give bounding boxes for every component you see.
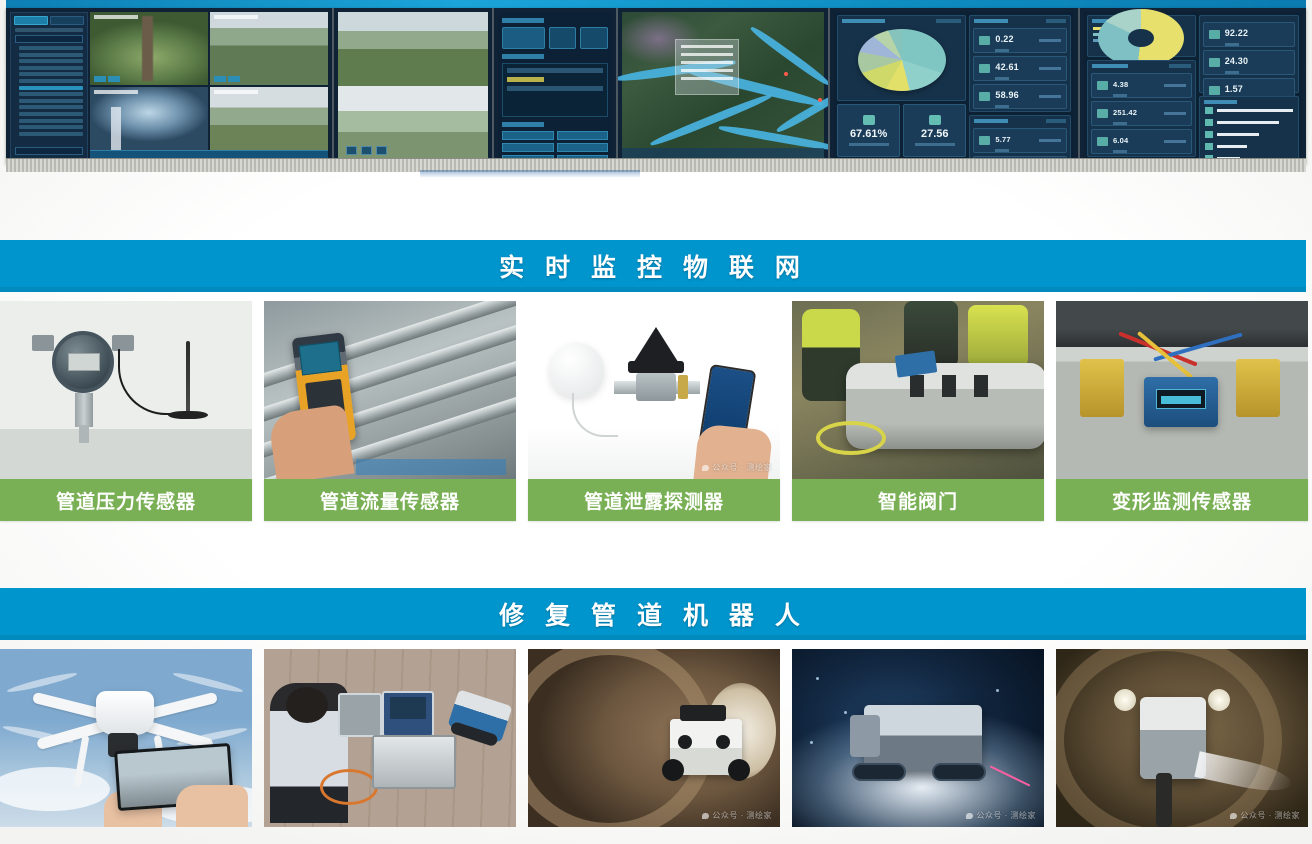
kpi-value: 251.42 [1113, 108, 1137, 117]
area-stats-card[interactable]: 4.38 251.42 [1087, 60, 1196, 157]
card-title [974, 119, 1008, 123]
card-pipeline-leak-detector[interactable]: 公众号 · 测绘家 管道泄露探测器 [528, 301, 780, 521]
survey-drone-illustration [0, 649, 252, 827]
kpi-row[interactable]: 251.42 [1091, 101, 1192, 126]
wall-screen-cctv-grid [6, 8, 332, 164]
watermark: 公众号 · 测绘家 [1230, 810, 1300, 821]
timestamp-overlay [94, 15, 138, 19]
table-row[interactable] [507, 77, 544, 82]
kpi-percent [1164, 112, 1186, 115]
field-crew-illustration [792, 301, 1044, 479]
timestamp-overlay [214, 15, 258, 19]
section-pipeline-repair-robots: 修 复 管 道 机 器 人 [0, 588, 1312, 827]
card-unit [1046, 119, 1066, 123]
map-marker[interactable] [784, 72, 788, 76]
stat-card[interactable] [549, 27, 577, 49]
big-stat-caption [849, 143, 889, 146]
map-info-callout [675, 39, 740, 95]
card-title [974, 19, 1008, 23]
tab-device-list[interactable] [14, 16, 48, 25]
card-title [842, 19, 885, 23]
big-stat-value: 27.56 [921, 128, 949, 140]
card-pipeline-pressure-sensor[interactable]: 管道压力传感器 [0, 301, 252, 521]
tree-node[interactable] [19, 46, 83, 50]
port-icon [1205, 143, 1213, 150]
pond-icon [979, 136, 990, 145]
product-thumbnail[interactable]: 公众号 · 测绘家 [792, 649, 1044, 827]
bi-dashboard: 4.38 251.42 [1084, 12, 1302, 160]
sidebar-footer-select[interactable] [15, 147, 83, 155]
card-unit [1169, 64, 1190, 68]
card-unit [1046, 19, 1066, 23]
watermark: 公众号 · 测绘家 [702, 810, 772, 821]
product-thumbnail[interactable] [0, 649, 252, 827]
vegetation-stats-card[interactable]: 92.22 24.30 1.57 [1199, 15, 1299, 93]
section-banner: 修 复 管 道 机 器 人 [0, 588, 1306, 640]
video-wall-frame: 67.61% 27.56 [6, 8, 1306, 164]
bar-row [1205, 143, 1293, 150]
panel-button[interactable] [502, 131, 554, 140]
product-thumbnail[interactable] [792, 301, 1044, 479]
big-stat-caption [915, 143, 955, 146]
product-card-row: 管道压力传感器 管道流量传感器 [0, 292, 1312, 521]
product-caption: 智能阀门 [792, 479, 1044, 521]
pond-icon [1097, 81, 1108, 90]
kpi-value: 24.30 [1225, 56, 1249, 66]
pipe-inspection-crawler-illustration [792, 649, 1044, 827]
in-pipe-crawler-illustration [528, 649, 780, 827]
bar-row [1205, 119, 1293, 126]
camera-controls[interactable] [214, 76, 240, 82]
card-smart-valve[interactable]: 智能阀门 [792, 301, 1044, 521]
product-caption: 变形监测传感器 [1056, 479, 1308, 521]
kpi-value: 42.61 [995, 62, 1019, 72]
kpi-percent [1039, 39, 1061, 42]
product-thumbnail[interactable] [264, 649, 516, 827]
artificial-surface-card[interactable]: 0.22 42.61 [969, 15, 1071, 112]
table-row[interactable] [507, 86, 603, 91]
road-icon [1205, 107, 1213, 114]
bridge-icon [1205, 131, 1213, 138]
kpi-row[interactable]: 6.04 [1091, 129, 1192, 154]
card-pipe-inspection-crawler[interactable]: 公众号 · 测绘家 [792, 649, 1044, 827]
panel-section-title [502, 18, 544, 23]
tree-node[interactable] [19, 92, 83, 96]
crawler-operator-illustration [264, 649, 516, 827]
card-crawler-operator[interactable] [264, 649, 516, 827]
tree-node[interactable] [19, 66, 83, 70]
wechat-icon [1230, 813, 1237, 819]
kpi-row[interactable]: 58.96 [973, 84, 1067, 109]
wall-screen-bi-dashboard-right: 4.38 251.42 [1078, 8, 1306, 164]
kpi-value: 0.22 [995, 34, 1013, 44]
panel-action-row [502, 27, 608, 49]
gis-side-panel [498, 12, 612, 160]
panel-button[interactable] [557, 131, 609, 140]
tree-node[interactable] [19, 112, 83, 116]
big-stat-card[interactable]: 67.61% [837, 104, 900, 157]
leaf-icon [929, 115, 941, 125]
camera-search-input[interactable] [15, 35, 83, 43]
desk-reflection [420, 170, 640, 178]
card-pipeline-flow-sensor[interactable]: 管道流量传感器 [264, 301, 516, 521]
card-title [1204, 100, 1237, 104]
water-icon [863, 115, 875, 125]
tree-node[interactable] [19, 72, 83, 76]
wall-screen-satellite-map [616, 8, 828, 164]
tree-node[interactable] [19, 53, 83, 57]
camera-tile[interactable] [210, 12, 328, 85]
panel-section-title [502, 122, 544, 127]
card-in-pipe-crawler-robot[interactable]: 公众号 · 测绘家 [528, 649, 780, 827]
timestamp-overlay [94, 90, 138, 94]
tree-icon [1209, 58, 1220, 67]
product-thumbnail[interactable] [0, 301, 252, 479]
big-stat-card[interactable]: 27.56 [903, 104, 966, 157]
card-title [1092, 64, 1128, 68]
bar-row [1205, 131, 1293, 138]
water-body-card[interactable]: 5.77 160.53 [969, 115, 1071, 164]
alarm-table [502, 63, 608, 117]
kpi-percent [1039, 67, 1061, 70]
product-caption: 管道泄露探测器 [528, 479, 780, 521]
tree-icon [979, 64, 990, 73]
section-title: 实 时 监 控 物 联 网 [499, 248, 807, 284]
tree-node[interactable] [19, 59, 83, 63]
watermark: 公众号 · 测绘家 [702, 462, 772, 473]
tree-node[interactable] [19, 99, 83, 103]
card-unit [936, 19, 961, 23]
pressure-sensor-illustration [0, 301, 252, 479]
wechat-icon [702, 813, 709, 819]
sidebar-tabs [14, 16, 84, 25]
kpi-percent [1039, 139, 1061, 142]
card-survey-drone[interactable] [0, 649, 252, 827]
tab-people-count[interactable] [50, 16, 84, 25]
product-thumbnail[interactable]: 公众号 · 测绘家 [528, 649, 780, 827]
building-icon [979, 36, 990, 45]
camera-tile[interactable] [90, 12, 208, 85]
big-stat-value: 67.61% [850, 128, 887, 140]
bar-row [1205, 107, 1293, 114]
kpi-value: 5.77 [995, 135, 1010, 144]
panel-section-title [502, 54, 544, 59]
card-deformation-sensor[interactable]: 变形监测传感器 [1056, 301, 1308, 521]
sidebar-heading [15, 28, 83, 32]
product-caption: 管道流量传感器 [264, 479, 516, 521]
leak-detector-illustration [528, 301, 780, 479]
kpi-value: 92.22 [1225, 28, 1249, 38]
product-caption: 管道压力传感器 [0, 479, 252, 521]
kpi-percent [1039, 95, 1061, 98]
panel-button[interactable] [557, 143, 609, 152]
tree-node[interactable] [19, 132, 83, 136]
kpi-row[interactable]: 92.22 [1203, 22, 1295, 47]
monitor-bezel [6, 158, 1306, 172]
wechat-icon [966, 813, 973, 819]
gis-satellite-map[interactable] [622, 12, 824, 160]
tree-node[interactable] [19, 105, 83, 109]
card-pipe-jetting-robot[interactable]: 公众号 · 测绘家 [1056, 649, 1308, 827]
alarm-card[interactable] [502, 27, 545, 49]
kpi-value: 6.04 [1113, 136, 1128, 145]
camera-controls[interactable] [94, 76, 120, 82]
wall-screen-bi-dashboard-left: 67.61% 27.56 [828, 8, 1078, 164]
deformation-sensor-illustration [1056, 301, 1308, 479]
kpi-row[interactable]: 5.77 [973, 128, 1067, 153]
product-thumbnail[interactable] [1056, 301, 1308, 479]
distribution-donut-card[interactable] [1087, 15, 1196, 57]
table-header-row [507, 68, 603, 73]
field-icon [979, 92, 990, 101]
kpi-row[interactable]: 0.22 [973, 28, 1067, 53]
timestamp-overlay [214, 90, 258, 94]
kpi-value: 1.57 [1225, 84, 1243, 94]
camera-controls[interactable] [346, 146, 387, 155]
donut-chart [1098, 9, 1184, 67]
section-banner: 实 时 监 控 物 联 网 [0, 240, 1306, 292]
forest-icon [1209, 30, 1220, 39]
hill-icon [1097, 137, 1108, 146]
tree-node[interactable] [19, 119, 83, 123]
land-use-pie-card[interactable] [837, 15, 966, 101]
rail-icon [1205, 119, 1213, 126]
product-thumbnail[interactable]: 公众号 · 测绘家 [528, 301, 780, 479]
section-title: 修 复 管 道 机 器 人 [499, 596, 807, 632]
pie-chart [858, 29, 946, 91]
facility-list-card[interactable] [1199, 96, 1299, 164]
page-root: 67.61% 27.56 [0, 0, 1312, 844]
product-card-row: 公众号 · 测绘家 [0, 640, 1312, 827]
product-thumbnail[interactable]: 公众号 · 测绘家 [1056, 649, 1308, 827]
tree-node[interactable] [19, 79, 83, 83]
kpi-percent [1164, 140, 1186, 143]
wall-screen-gis-panel [492, 8, 616, 164]
section-iot-monitoring: 实 时 监 控 物 联 网 管道压力传感器 [0, 240, 1312, 521]
tree-node[interactable] [19, 125, 83, 129]
grass-icon [1209, 86, 1220, 95]
wall-screen-control-panel [332, 8, 492, 164]
horizontal-bar-list [1200, 97, 1298, 164]
kpi-row[interactable]: 42.61 [973, 56, 1067, 81]
kpi-value: 58.96 [995, 90, 1019, 100]
watermark: 公众号 · 测绘家 [966, 810, 1036, 821]
hero-video-wall-photo: 67.61% 27.56 [0, 0, 1312, 178]
kpi-percent [1164, 84, 1186, 87]
wechat-icon [702, 465, 709, 471]
kpi-row[interactable]: 4.38 [1091, 73, 1192, 98]
product-thumbnail[interactable] [264, 301, 516, 479]
stat-card[interactable] [580, 27, 608, 49]
flow-meter-illustration [264, 301, 516, 479]
kpi-value: 4.38 [1113, 80, 1128, 89]
camera-tile[interactable] [338, 86, 488, 160]
map-marker[interactable] [818, 98, 822, 102]
bi-dashboard: 67.61% 27.56 [834, 12, 1074, 160]
pipe-jetting-robot-illustration [1056, 649, 1308, 827]
tree-node-selected[interactable] [19, 86, 83, 90]
camera-grid [90, 12, 328, 160]
panel-button[interactable] [502, 143, 554, 152]
kpi-row[interactable]: 24.30 [1203, 50, 1295, 75]
plain-icon [1097, 109, 1108, 118]
camera-tile[interactable] [338, 12, 488, 86]
camera-tree-sidebar [10, 12, 88, 160]
